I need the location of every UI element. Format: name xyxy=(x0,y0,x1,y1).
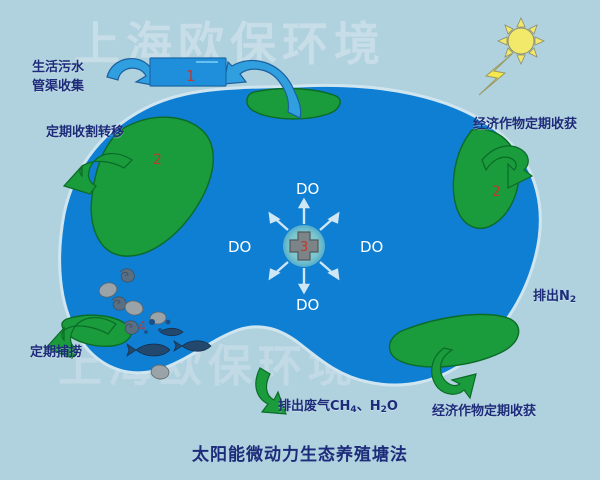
do-marker-bottom: DO xyxy=(296,296,319,314)
label-nitrogen-release: 排出N2 xyxy=(533,288,576,307)
diagram-canvas: 上海欧保环境 上海欧保环境 上海欧保环境 xyxy=(0,0,600,480)
marker-number-inlet-tank: 1 xyxy=(186,67,196,85)
label-exhaust-gas: 排出废气CH4、H2O xyxy=(278,398,398,417)
label-periodic-fishing: 定期捕捞 xyxy=(30,344,82,361)
label-crop-harvest-right: 经济作物定期收获 xyxy=(473,116,577,133)
lightning-bolt-icon xyxy=(479,54,512,95)
sun-icon xyxy=(498,18,544,64)
label-crop-harvest-bottom: 经济作物定期收获 xyxy=(432,403,536,420)
marker-number-aquaculture: 4 xyxy=(138,320,146,335)
do-marker-right: DO xyxy=(360,238,383,256)
marker-number-plant-left: 2 xyxy=(153,152,162,168)
label-sewage-collection: 生活污水 管渠收集 xyxy=(32,58,84,96)
label-exhaust-prefix: 排出废气CH xyxy=(278,399,350,414)
label-exhaust-sub2: 2 xyxy=(381,405,387,415)
marker-number-aerator: 3 xyxy=(300,240,308,255)
diagram-title: 太阳能微动力生态养殖塘法 xyxy=(0,440,600,465)
label-periodic-harvest-transfer: 定期收割转移 xyxy=(46,124,124,141)
label-nitrogen-text: 排出N xyxy=(533,289,570,304)
label-nitrogen-subscript: 2 xyxy=(570,295,576,305)
do-marker-left: DO xyxy=(228,238,251,256)
label-exhaust-sub1: 4 xyxy=(350,405,356,415)
marker-number-plant-right: 2 xyxy=(492,184,501,200)
do-marker-top: DO xyxy=(296,180,319,198)
label-exhaust-middle: 、H xyxy=(357,399,381,414)
label-exhaust-suffix: O xyxy=(387,399,398,414)
